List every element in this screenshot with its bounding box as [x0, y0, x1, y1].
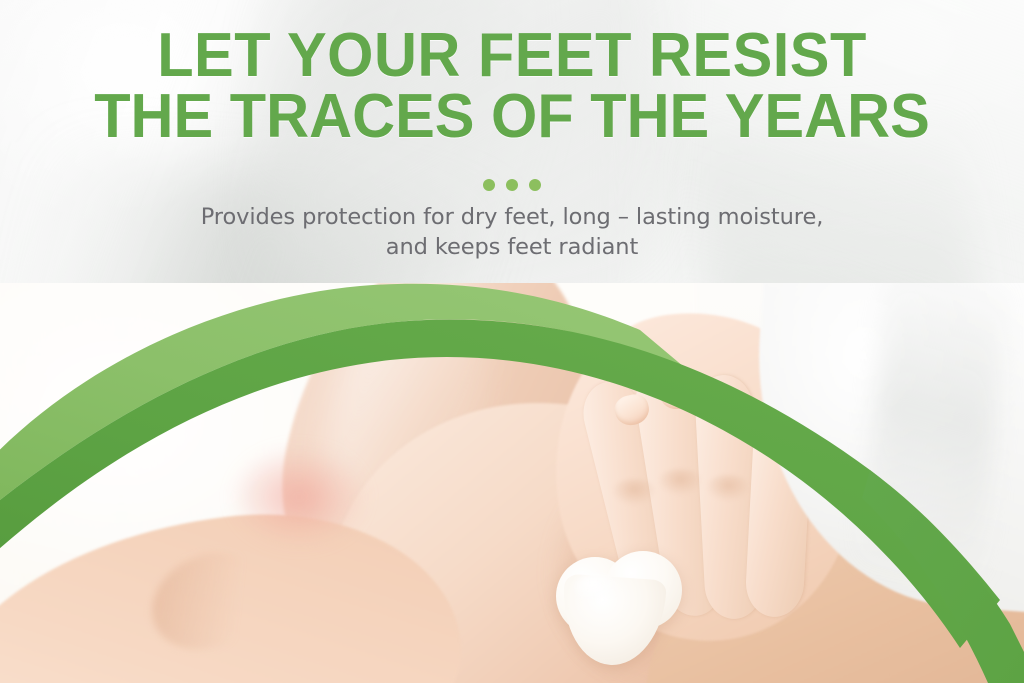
three-dots-icon	[0, 179, 1024, 191]
dot-icon-2	[506, 179, 518, 191]
subtitle-line-2: and keeps feet radiant	[0, 233, 1024, 263]
subtitle-line-1: Provides protection for dry feet, long –…	[0, 203, 1024, 233]
sole-blush	[236, 451, 362, 543]
headline-line-2: THE TRACES OF THE YEARS	[20, 87, 1003, 148]
foot-care-photo	[0, 283, 1024, 683]
knuckle-shadow-3	[706, 475, 750, 501]
promo-banner: LET YOUR FEET RESIST THE TRACES OF THE Y…	[0, 0, 1024, 683]
page-title: LET YOUR FEET RESIST THE TRACES OF THE Y…	[20, 26, 1003, 148]
knuckle-shadow-1	[612, 479, 656, 505]
cream-dollop	[556, 551, 688, 667]
subtitle: Provides protection for dry feet, long –…	[0, 203, 1024, 262]
cream-gloss	[574, 573, 620, 603]
dot-icon-3	[529, 179, 541, 191]
headline-line-1: LET YOUR FEET RESIST	[20, 26, 1003, 87]
dot-icon-1	[483, 179, 495, 191]
knuckle-shadow-2	[658, 469, 702, 495]
